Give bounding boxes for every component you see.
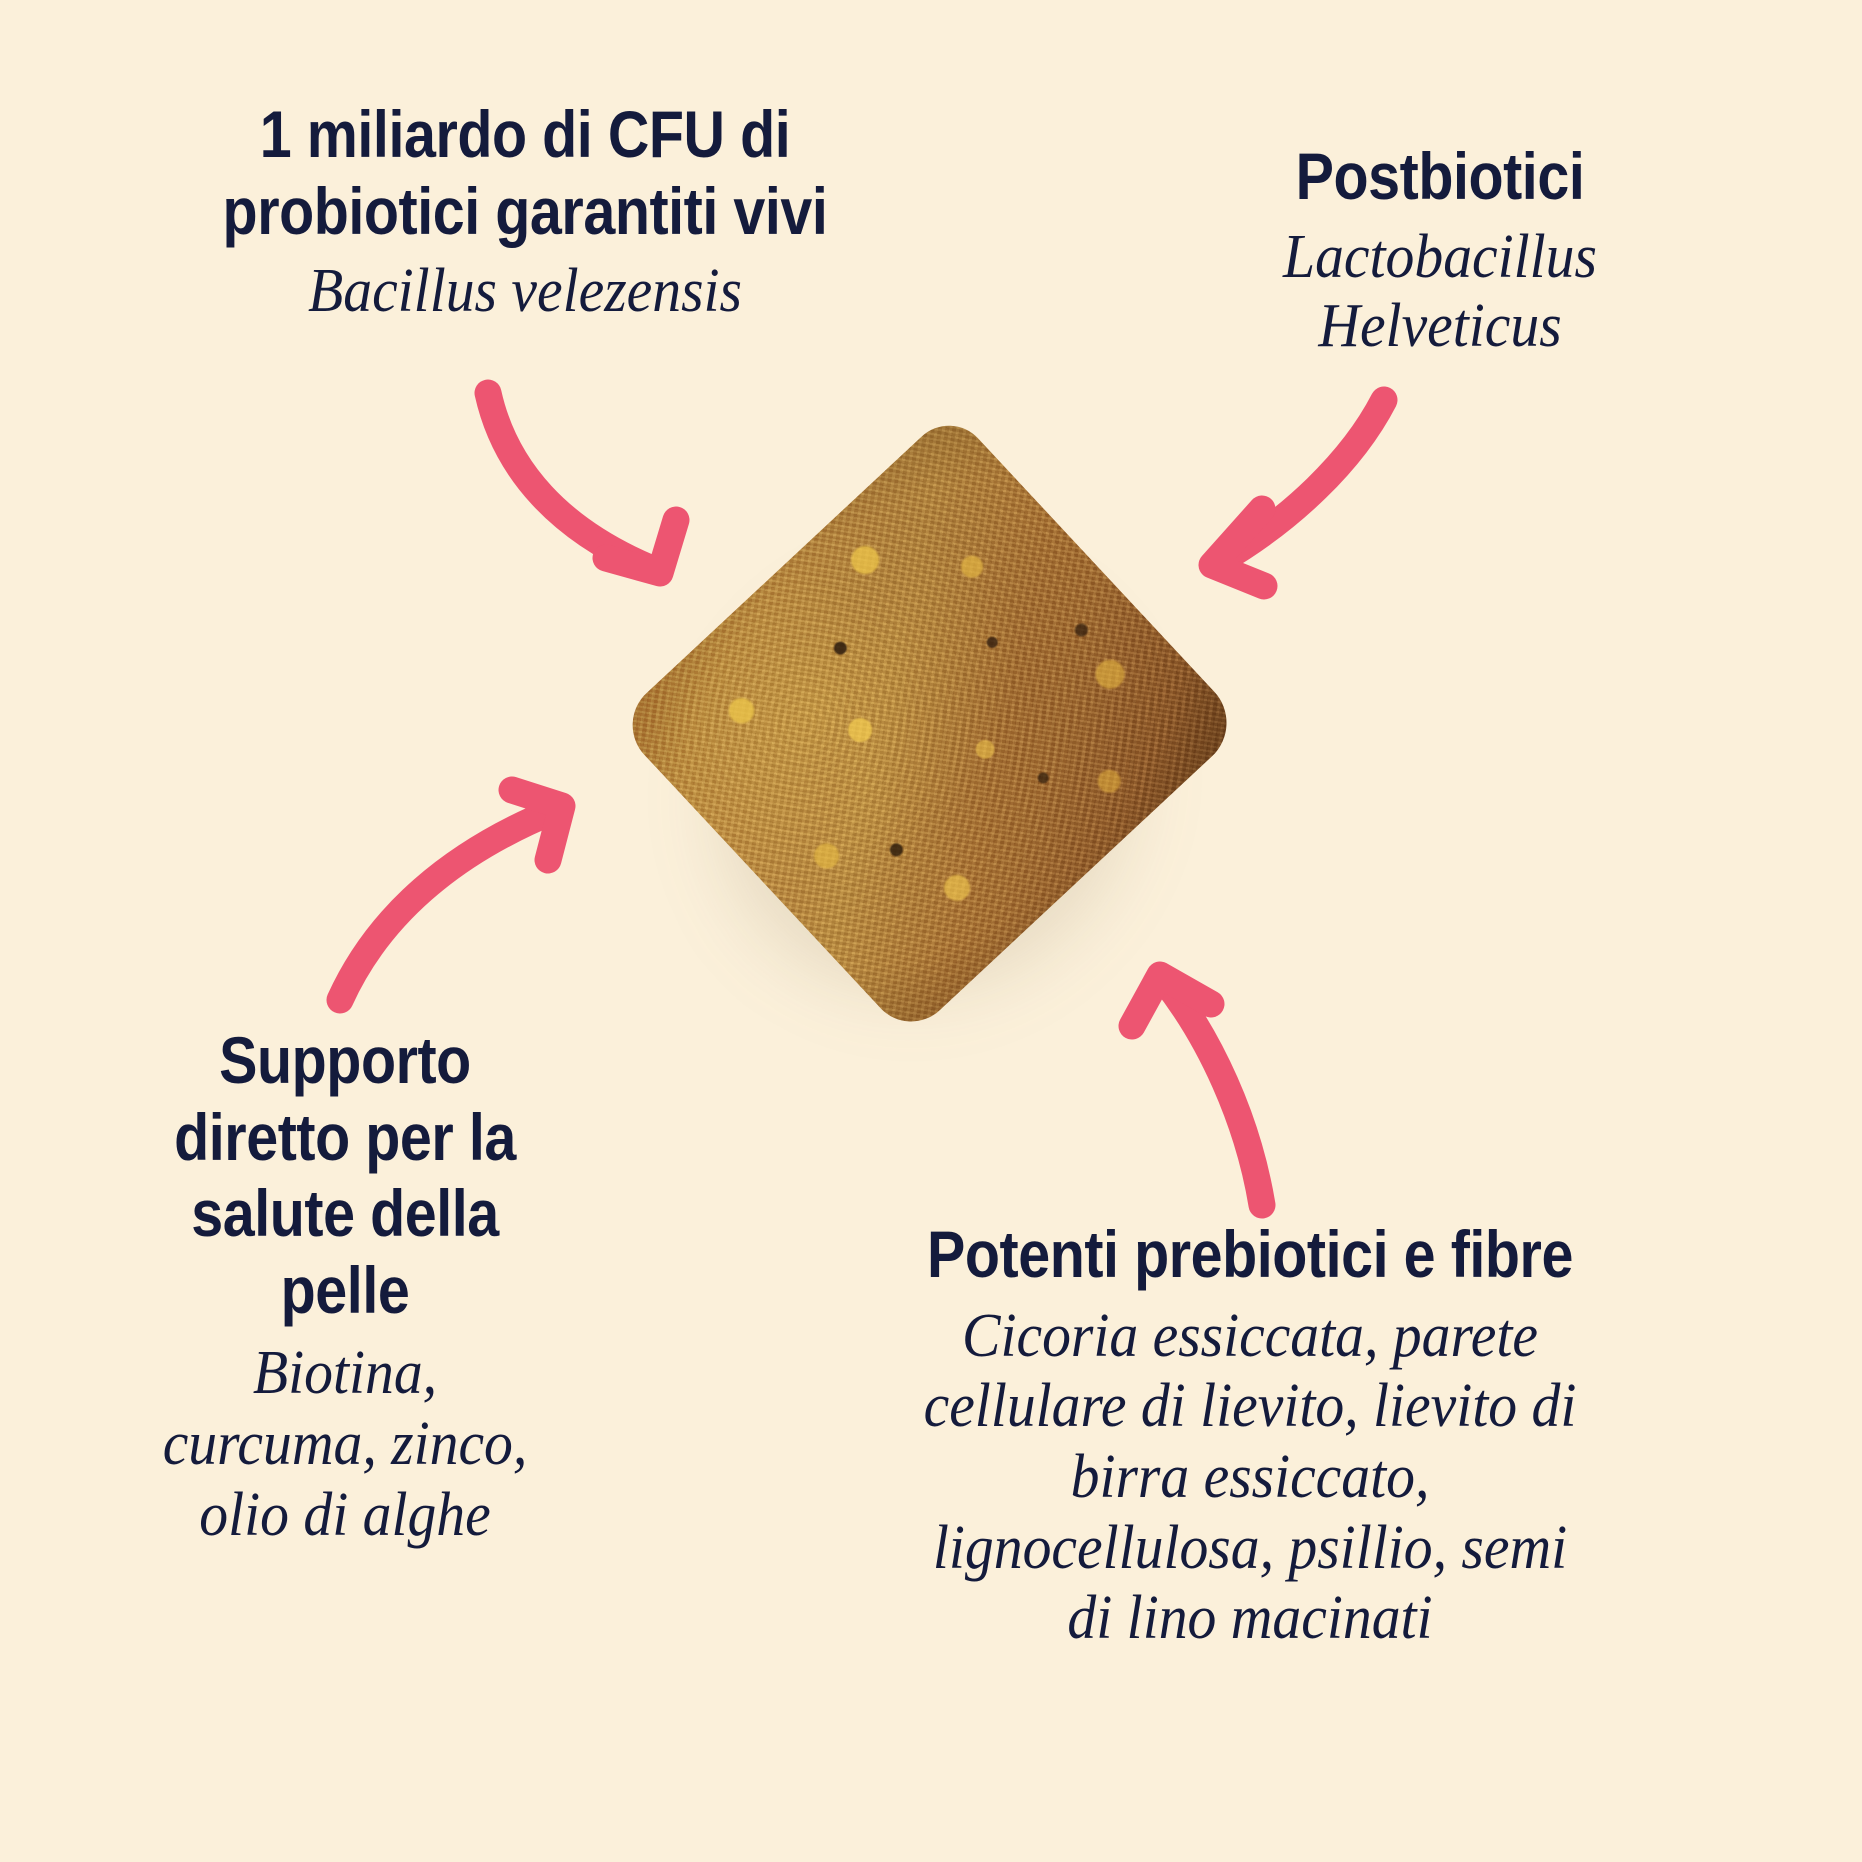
kibble-sheen: [614, 409, 1245, 1039]
callout-probiotici: 1 miliardo di CFU di probiotici garantit…: [110, 96, 940, 327]
heading-line: diretto per la: [97, 1099, 593, 1176]
heading-line: Potenti prebiotici e fibre: [737, 1216, 1764, 1293]
heading-line: pelle: [97, 1252, 593, 1329]
subtitle-line: Biotina,: [80, 1338, 610, 1409]
heading-line: probiotici garantiti vivi: [164, 173, 886, 250]
callout-pelle-subtitle: Biotina, curcuma, zinco, olio di alghe: [80, 1338, 610, 1550]
callout-probiotici-subtitle: Bacillus velezensis: [139, 257, 911, 326]
arrow-pelle-icon: [340, 790, 562, 1000]
heading-line: 1 miliardo di CFU di: [164, 96, 886, 173]
heading-line: Postbiotici: [1109, 138, 1770, 215]
subtitle-line: cellulare di lievito, lievito di: [701, 1371, 1798, 1442]
product-image: [620, 430, 1240, 1050]
subtitle-line: birra essiccato,: [701, 1442, 1798, 1513]
callout-postbiotici: Postbiotici Lactobacillus Helveticus: [1060, 138, 1820, 361]
kibble-treat-photo: [614, 409, 1245, 1039]
subtitle-line: lignocellulosa, psillio, semi: [701, 1513, 1798, 1584]
callout-prebiotici-subtitle: Cicoria essiccata, parete cellulare di l…: [701, 1301, 1798, 1654]
subtitle-line: curcuma, zinco,: [80, 1409, 610, 1480]
callout-pelle: Supporto diretto per la salute della pel…: [60, 1022, 630, 1550]
subtitle-line: Helveticus: [1087, 292, 1794, 361]
callout-probiotici-heading: 1 miliardo di CFU di probiotici garantit…: [164, 96, 886, 249]
callout-prebiotici: Potenti prebiotici e fibre Cicoria essic…: [660, 1216, 1840, 1654]
subtitle-line: Lactobacillus: [1087, 223, 1794, 292]
subtitle-line: di lino macinati: [701, 1583, 1798, 1654]
callout-prebiotici-heading: Potenti prebiotici e fibre: [737, 1216, 1764, 1293]
callout-postbiotici-subtitle: Lactobacillus Helveticus: [1087, 223, 1794, 362]
subtitle-line: Cicoria essiccata, parete: [701, 1301, 1798, 1372]
heading-line: Supporto: [97, 1022, 593, 1099]
subtitle-line: olio di alghe: [80, 1480, 610, 1551]
heading-line: salute della: [97, 1175, 593, 1252]
infographic-canvas: 1 miliardo di CFU di probiotici garantit…: [0, 0, 1862, 1862]
subtitle-line: Bacillus velezensis: [139, 257, 911, 326]
callout-pelle-heading: Supporto diretto per la salute della pel…: [97, 1022, 593, 1328]
callout-postbiotici-heading: Postbiotici: [1109, 138, 1770, 215]
